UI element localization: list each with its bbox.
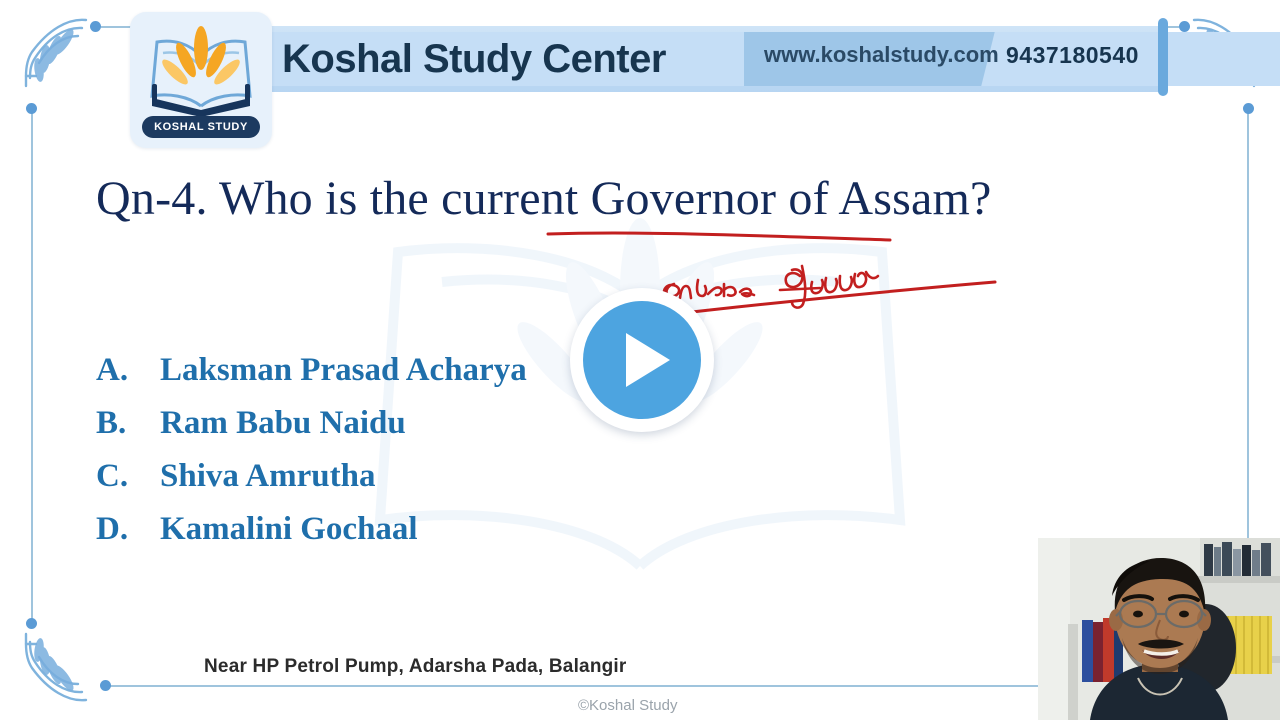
option-letter-b: B. [96, 405, 160, 442]
frame-dot-left-bottom [26, 618, 37, 629]
option-letter-c: C. [96, 458, 160, 495]
play-button[interactable] [570, 288, 714, 432]
footer-credit: ©Koshal Study [578, 697, 677, 714]
annotation-handwriting-icon [650, 246, 1010, 321]
option-letter-a: A. [96, 352, 160, 389]
frame-dot-left-top [26, 103, 37, 114]
footer-address: Near HP Petrol Pump, Adarsha Pada, Balan… [204, 656, 627, 678]
brand-website[interactable]: www.koshalstudy.com [764, 42, 999, 68]
slide-canvas: Koshal Study Center www.koshalstudy.com … [0, 0, 1280, 720]
answer-options-list: A. Laksman Prasad Acharya B. Ram Babu Na… [96, 352, 856, 564]
open-book-wheat-logo-icon [146, 22, 256, 118]
corner-ornament-top-left [8, 8, 100, 100]
option-text-b: Ram Babu Naidu [160, 405, 406, 442]
option-row-a[interactable]: A. Laksman Prasad Acharya [96, 352, 856, 405]
presenter-video-frame [1038, 538, 1280, 720]
frame-dot-top-left [90, 21, 101, 32]
option-text-a: Laksman Prasad Acharya [160, 352, 527, 389]
frame-line-bottom [108, 685, 1172, 687]
brand-phone: 9437180540 [1006, 42, 1139, 69]
play-button-disc [583, 301, 701, 419]
frame-dot-top-right [1179, 21, 1190, 32]
option-row-b[interactable]: B. Ram Babu Naidu [96, 405, 856, 458]
brand-logo-card: KOSHAL STUDY [130, 12, 272, 148]
banner-end-bar [1158, 18, 1168, 96]
frame-line-left [31, 109, 33, 623]
brand-title: Koshal Study Center [282, 35, 666, 83]
frame-dot-right-top [1243, 103, 1254, 114]
frame-dot-bottom-left [100, 680, 111, 691]
header-banner: Koshal Study Center www.koshalstudy.com … [138, 26, 1164, 92]
play-triangle-icon [626, 333, 670, 387]
option-text-d: Kamalini Gochaal [160, 511, 418, 548]
option-row-d[interactable]: D. Kamalini Gochaal [96, 511, 856, 564]
question-text: Qn-4. Who is the current Governor of Ass… [96, 168, 1026, 230]
corner-ornament-bottom-left [8, 620, 100, 712]
option-letter-d: D. [96, 511, 160, 548]
logo-wordmark-pill: KOSHAL STUDY [142, 116, 260, 138]
option-text-c: Shiva Amrutha [160, 458, 375, 495]
presenter-video-overlay[interactable] [1038, 538, 1280, 720]
option-row-c[interactable]: C. Shiva Amrutha [96, 458, 856, 511]
